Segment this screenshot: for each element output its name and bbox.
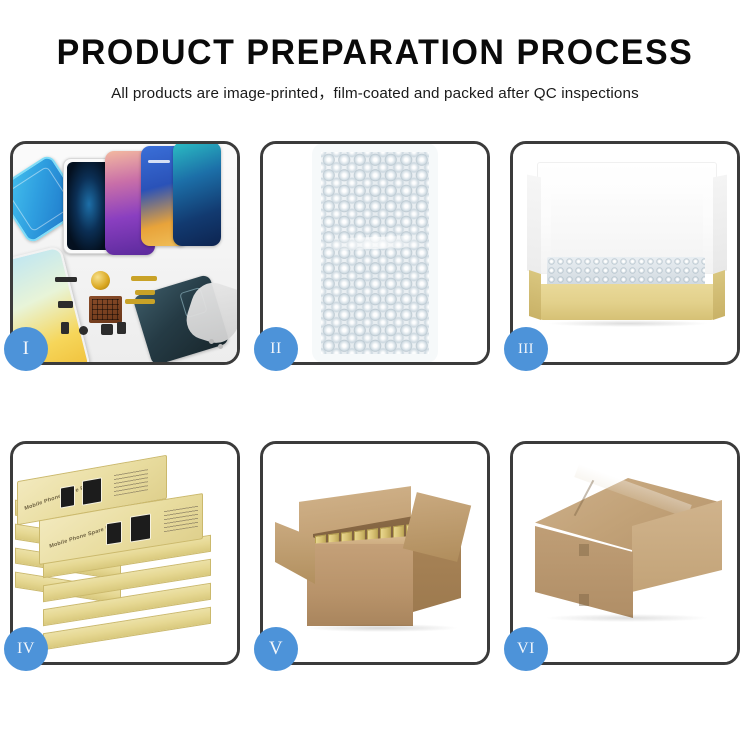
box-shadow <box>547 320 709 327</box>
panel-step-2: II <box>260 141 490 365</box>
box-screen-art-upper-2 <box>130 513 151 542</box>
charging-port <box>117 322 126 334</box>
step-badge-4: IV <box>4 627 48 671</box>
phone-parts-image <box>13 144 237 362</box>
panel-step-3: III <box>510 141 740 365</box>
bubble-wrap-pouch <box>321 152 429 354</box>
volume-flex-cable <box>125 299 155 304</box>
battery-connector <box>58 301 73 308</box>
step-badge-5: V <box>254 627 298 671</box>
box-spec-lines-top <box>114 468 148 496</box>
panel-step-4: Mobile Phone Spare Parts Mobile Phone Sp… <box>10 441 240 665</box>
vibration-motor <box>79 326 88 335</box>
plastic-sheen <box>321 235 429 251</box>
box-spec-lines-upper <box>164 505 198 532</box>
box-stack: Mobile Phone Spare Parts Mobile Phone Sp… <box>13 444 237 662</box>
sealed-carton-shadow <box>547 614 707 622</box>
step-badge-6: VI <box>504 627 548 671</box>
earpiece-mesh <box>55 277 77 282</box>
panel-step-1: I <box>10 141 240 365</box>
bubble-wrapped-contents <box>547 257 705 287</box>
step-badge-2: II <box>254 327 298 371</box>
carton-shadow <box>307 624 457 632</box>
box-screen-art-upper-1 <box>106 521 122 546</box>
header: PRODUCT PREPARATION PROCESS All products… <box>0 0 750 103</box>
bubble-wrap-image <box>263 144 487 362</box>
carton-seam-front <box>579 544 589 556</box>
screw-set <box>209 339 214 344</box>
step-badge-1: I <box>4 327 48 371</box>
open-carton-image <box>263 444 487 662</box>
foam-insert <box>551 194 703 262</box>
page-title: PRODUCT PREPARATION PROCESS <box>11 33 739 72</box>
logic-board <box>89 296 122 323</box>
process-step-grid: I II III <box>10 141 740 665</box>
carton-seam-front-2 <box>579 594 589 606</box>
screw-set-2 <box>218 344 223 349</box>
white-mailer-box-image <box>513 144 737 362</box>
power-flex-cable <box>131 276 157 281</box>
step-badge-3: III <box>504 327 548 371</box>
sim-tray <box>61 322 69 334</box>
panel-step-6: VI <box>510 441 740 665</box>
camera-module <box>101 324 113 335</box>
panel-step-5: V <box>260 441 490 665</box>
teal-gradient-phone <box>173 144 221 246</box>
carton-front-face <box>307 544 413 626</box>
mailer-box-base <box>539 284 715 320</box>
page-subtitle: All products are image-printed，film-coat… <box>0 81 750 103</box>
box-screen-art-top-1 <box>60 485 75 509</box>
stacked-boxes-image: Mobile Phone Spare Parts Mobile Phone Sp… <box>13 444 237 662</box>
product-preparation-infographic: PRODUCT PREPARATION PROCESS All products… <box>0 0 750 750</box>
home-button-flex <box>135 290 155 295</box>
box-screen-art-top-2 <box>82 477 102 506</box>
sealed-carton-image <box>513 444 737 662</box>
speaker-module <box>91 271 110 290</box>
